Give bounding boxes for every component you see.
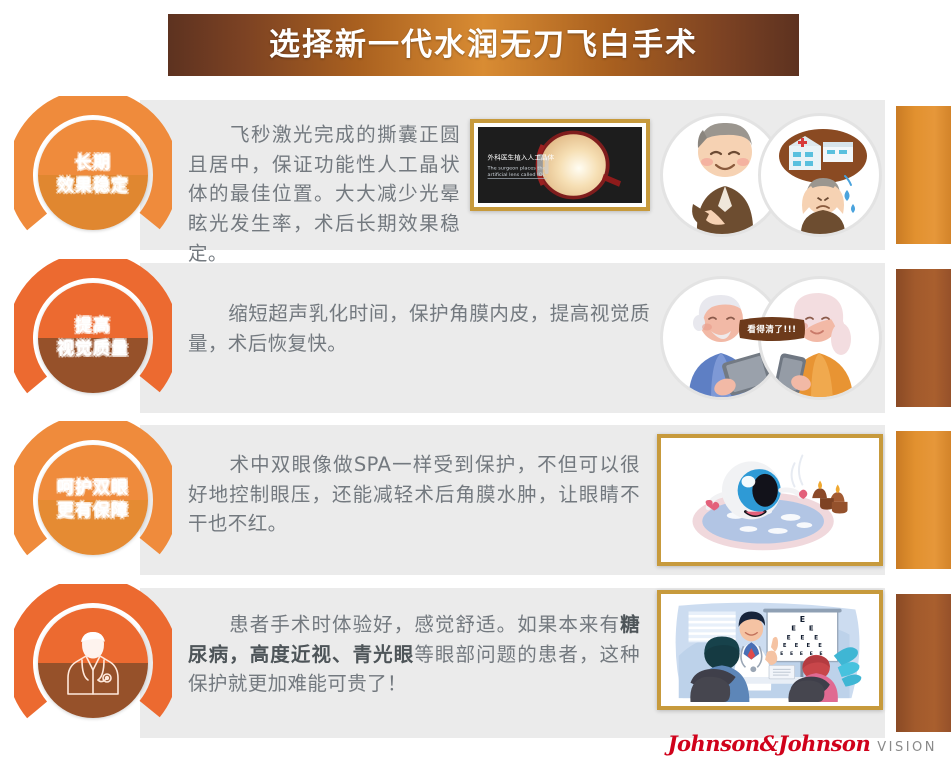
row-3-text: 术中双眼像做SPA一样受到保护，不但可以很好地控制眼压，还能减轻术后角膜水肿，让… bbox=[188, 450, 640, 539]
badge-core: 长期 效果稳定 bbox=[38, 120, 148, 230]
badge-label: 长期 效果稳定 bbox=[57, 152, 129, 198]
svg-text:E: E bbox=[800, 635, 804, 641]
svg-text:E: E bbox=[787, 635, 791, 641]
badge-label-line-2: 效果稳定 bbox=[57, 175, 129, 198]
eye-diagram-caption-cn: 外科医生植入人工晶体 bbox=[488, 153, 555, 162]
badge-visual-quality[interactable]: 提高 视觉质量 bbox=[14, 259, 172, 417]
svg-text:E: E bbox=[814, 635, 818, 641]
badge-core: 呵护双眼 更有保障 bbox=[38, 445, 148, 555]
row-2-accent-bar bbox=[896, 269, 951, 407]
badge-core: 提高 视觉质量 bbox=[38, 283, 148, 393]
badge-label-line-1: 呵护双眼 bbox=[57, 477, 129, 500]
content-row-1: 长期 效果稳定 飞秒激光完成的撕囊正圆且居中，保证功能性人工晶状体的最佳位置。大… bbox=[0, 100, 951, 250]
logo-brand: Johnson&Johnson bbox=[668, 731, 871, 756]
doctor-consultation-frame[interactable]: E EE EEE EEEE EEEEE bbox=[657, 590, 883, 710]
badge-doctor[interactable] bbox=[14, 584, 172, 742]
infographic-page: 选择新一代水润无刀飞白手术 长期 效果稳定 飞秒激光完成的撕囊正圆且居中，保 bbox=[0, 0, 951, 770]
illustration-circle-right bbox=[758, 113, 882, 237]
svg-text:The surgeon places the: The surgeon places the bbox=[487, 166, 546, 172]
eye-iol-diagram-frame[interactable]: 外科医生植入人工晶体 The surgeon places the artifi… bbox=[470, 119, 650, 211]
johnson-johnson-vision-logo: Johnson&Johnson VISION bbox=[668, 731, 937, 756]
row-1-text: 飞秒激光完成的撕囊正圆且居中，保证功能性人工晶状体的最佳位置。大大减少光晕眩光发… bbox=[188, 120, 460, 268]
svg-text:E: E bbox=[783, 643, 787, 649]
page-title: 选择新一代水润无刀飞白手术 bbox=[269, 30, 698, 61]
badge-label-line-2: 更有保障 bbox=[57, 500, 129, 523]
row-1-accent-bar bbox=[896, 106, 951, 244]
badge-label-line-1: 提高 bbox=[57, 315, 129, 338]
svg-text:E: E bbox=[790, 651, 793, 657]
badge-eye-care-protection[interactable]: 呵护双眼 更有保障 bbox=[14, 421, 172, 579]
svg-text:artificial lens called IOL: artificial lens called IOL bbox=[488, 172, 546, 178]
speech-bubble-text: 看得清了!!! bbox=[736, 323, 808, 335]
eye-iol-diagram: 外科医生植入人工晶体 The surgeon places the artifi… bbox=[478, 127, 642, 203]
row-3-accent-bar bbox=[896, 431, 951, 569]
svg-text:E: E bbox=[800, 615, 805, 624]
row-4-text: 患者手术时体验好，感觉舒适。如果本来有糖尿病，高度近视、青光眼等眼部问题的患者，… bbox=[188, 610, 640, 699]
badge-label-line-1: 长期 bbox=[57, 152, 129, 175]
svg-text:E: E bbox=[818, 643, 822, 649]
badge-label-line-2: 视觉质量 bbox=[57, 338, 129, 361]
badge-label: 提高 视觉质量 bbox=[57, 315, 129, 361]
logo-subbrand: VISION bbox=[877, 740, 937, 755]
content-row-3: 呵护双眼 更有保障 术中双眼像做SPA一样受到保护，不但可以很好地控制眼压，还能… bbox=[0, 425, 951, 575]
svg-text:E: E bbox=[780, 651, 783, 657]
eyeball-spa-illustration bbox=[665, 442, 875, 558]
elderly-pair-hospital-worry bbox=[660, 105, 882, 245]
badge-long-term-stability[interactable]: 长期 效果稳定 bbox=[14, 96, 172, 254]
page-title-banner: 选择新一代水润无刀飞白手术 bbox=[168, 14, 799, 76]
eyeball-spa-frame[interactable] bbox=[657, 434, 883, 566]
elderly-pair-tablets: 看得清了!!! bbox=[660, 268, 882, 408]
svg-text:E: E bbox=[791, 625, 796, 633]
svg-text:E: E bbox=[809, 625, 814, 633]
svg-text:E: E bbox=[800, 651, 803, 657]
row-4-accent-bar bbox=[896, 594, 951, 732]
row-2-text: 缩短超声乳化时间，保护角膜内皮，提高视觉质量，术后恢复快。 bbox=[188, 299, 650, 358]
content-row-2: 提高 视觉质量 缩短超声乳化时间，保护角膜内皮，提高视觉质量，术后恢复快。 bbox=[0, 263, 951, 413]
svg-text:E: E bbox=[806, 643, 810, 649]
doctor-icon bbox=[54, 624, 132, 702]
svg-text:E: E bbox=[795, 643, 799, 649]
doctor-consultation-eyechart: E EE EEE EEEE EEEEE bbox=[665, 598, 875, 702]
badge-core bbox=[38, 608, 148, 718]
badge-label: 呵护双眼 更有保障 bbox=[57, 477, 129, 523]
content-row-4: 患者手术时体验好，感觉舒适。如果本来有糖尿病，高度近视、青光眼等眼部问题的患者，… bbox=[0, 588, 951, 738]
